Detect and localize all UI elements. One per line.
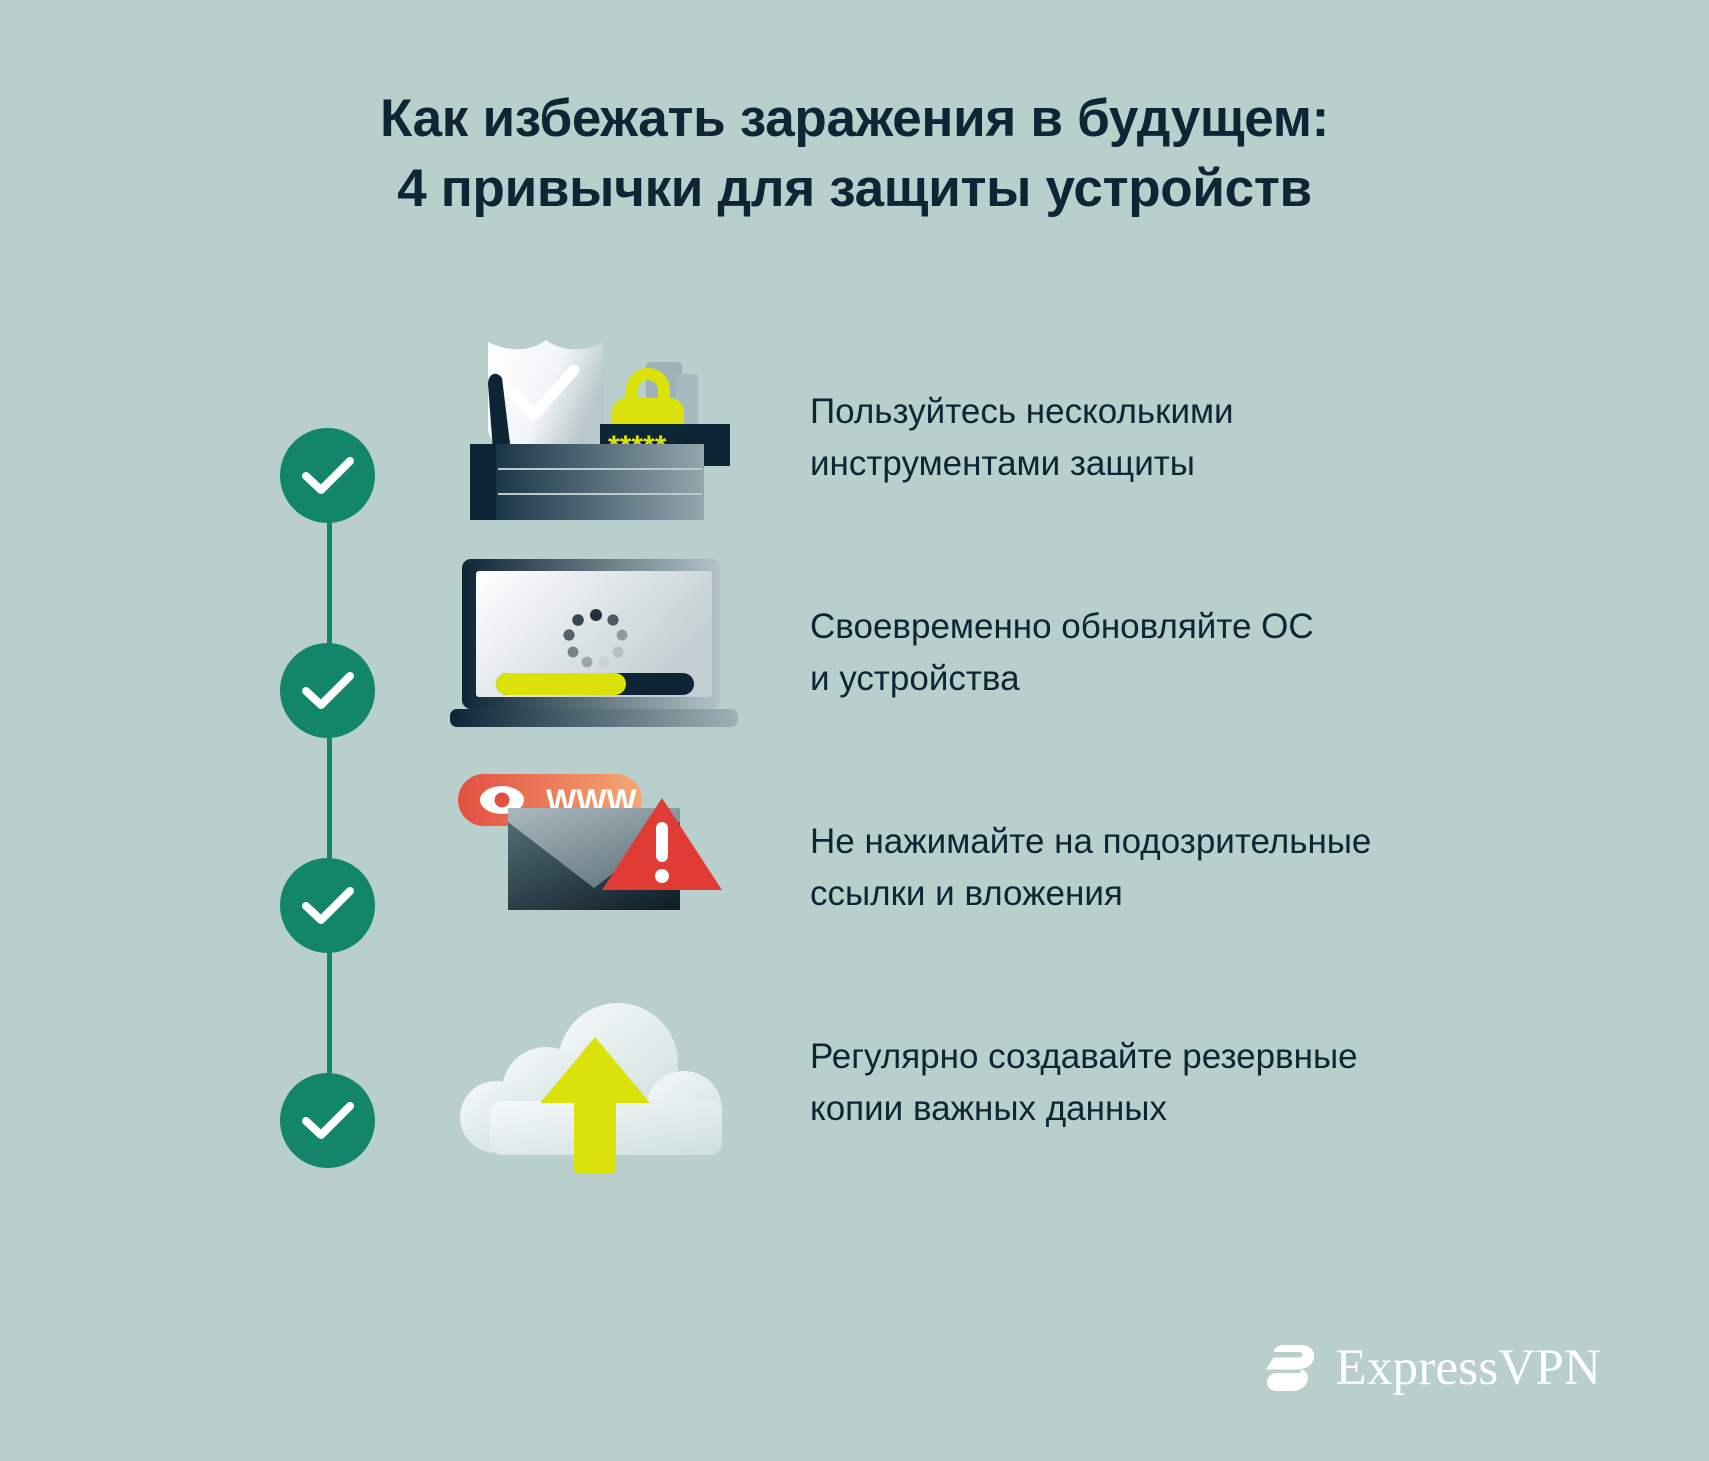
infographic-canvas: Как избежать заражения в будущем: 4 прив… (0, 0, 1709, 1461)
step-label-1-line-2: инструментами защиты (810, 438, 1530, 490)
step-row-3: WWW Не нажимайте на подозрительные ссылк… (0, 760, 1709, 975)
step-label-2: Своевременно обновляйте ОС и устройства (810, 601, 1530, 705)
phishing-email-icon: WWW (450, 760, 740, 975)
expressvpn-logo: ExpressVPN (1258, 1337, 1602, 1399)
step-icon-2 (450, 545, 740, 760)
step-icon-1: ***** (450, 330, 740, 545)
step-label-2-line-1: Своевременно обновляйте ОС (810, 601, 1530, 653)
step-label-4-line-1: Регулярно создавайте резервные (810, 1031, 1530, 1083)
steps-list: ***** Пользуйтесь несколькими инструмент… (0, 330, 1709, 1230)
step-icon-3: WWW (450, 760, 740, 975)
step-label-4-line-2: копии важных данных (810, 1083, 1530, 1135)
progress-bar-fill (496, 673, 626, 695)
laptop-update-icon (450, 545, 740, 760)
toolbox-shield-lock-icon: ***** (450, 330, 740, 545)
title-line-1: Как избежать заражения в будущем: (0, 84, 1709, 154)
step-label-3-line-2: ссылки и вложения (810, 868, 1530, 920)
step-label-4: Регулярно создавайте резервные копии важ… (810, 1031, 1530, 1135)
expressvpn-e-mark-icon (1258, 1337, 1320, 1399)
step-label-1: Пользуйтесь несколькими инструментами за… (810, 386, 1530, 490)
step-row-4: Регулярно создавайте резервные копии важ… (0, 975, 1709, 1190)
step-label-2-line-2: и устройства (810, 653, 1530, 705)
step-label-1-line-1: Пользуйтесь несколькими (810, 386, 1530, 438)
cloud-backup-upload-icon (450, 975, 740, 1190)
step-label-3-line-1: Не нажимайте на подозрительные (810, 816, 1530, 868)
step-row-2: Своевременно обновляйте ОС и устройства (0, 545, 1709, 760)
expressvpn-wordmark: ExpressVPN (1336, 1343, 1602, 1394)
page-title: Как избежать заражения в будущем: 4 прив… (0, 84, 1709, 224)
step-row-1: ***** Пользуйтесь несколькими инструмент… (0, 330, 1709, 545)
title-line-2: 4 привычки для защиты устройств (0, 154, 1709, 224)
step-icon-4 (450, 975, 740, 1190)
step-label-3: Не нажимайте на подозрительные ссылки и … (810, 816, 1530, 920)
